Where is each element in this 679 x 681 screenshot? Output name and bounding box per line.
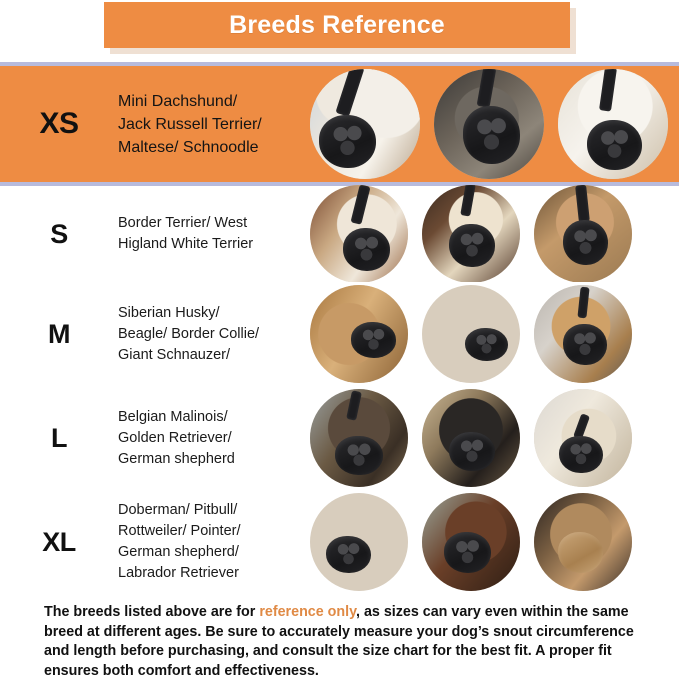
size-cell-xl: XL	[0, 527, 118, 558]
dog-photo	[534, 285, 632, 383]
size-cell-l: L	[0, 423, 118, 454]
photo-strip-s	[304, 186, 679, 282]
breed-line: Jack Russell Terrier/	[118, 113, 300, 136]
breed-line: Labrador Retriever	[118, 563, 300, 584]
dog-photo	[558, 69, 668, 179]
size-cell-m: M	[0, 319, 118, 350]
breed-line: Rottweiler/ Pointer/	[118, 521, 300, 542]
size-label: XL	[42, 527, 76, 558]
breed-line: Belgian Malinois/	[118, 407, 300, 428]
dog-photo	[310, 389, 408, 487]
footer-text-part1: The breeds listed above are for	[44, 604, 259, 620]
photo-strip-xs	[304, 66, 679, 182]
breed-cell-xs: Mini Dachshund/ Jack Russell Terrier/ Ma…	[118, 90, 304, 159]
breed-line: German shepherd/	[118, 542, 300, 563]
breed-line: Golden Retriever/	[118, 428, 300, 449]
dog-photo	[310, 185, 408, 283]
breed-cell-l: Belgian Malinois/ Golden Retriever/ Germ…	[118, 407, 304, 470]
breed-line: Siberian Husky/	[118, 303, 300, 324]
breed-line: Maltese/ Schnoodle	[118, 136, 300, 159]
dog-photo	[534, 389, 632, 487]
dog-photo	[422, 185, 520, 283]
dog-photo	[534, 185, 632, 283]
dog-photo	[310, 69, 420, 179]
dog-photo	[310, 285, 408, 383]
breed-line: Higland White Terrier	[118, 234, 300, 255]
dog-photo	[434, 69, 544, 179]
table-row-l: L Belgian Malinois/ Golden Retriever/ Ge…	[0, 386, 679, 490]
breeds-reference-sheet: Breeds Reference XS Mini Dachshund/ Jack…	[0, 0, 679, 672]
breed-line: Doberman/ Pitbull/	[118, 500, 300, 521]
breeds-table: XS Mini Dachshund/ Jack Russell Terrier/…	[0, 62, 679, 594]
dog-photo	[422, 493, 520, 591]
photo-strip-l	[304, 386, 679, 490]
size-cell-s: S	[0, 219, 118, 250]
dog-photo	[422, 389, 520, 487]
footer-highlight: reference only	[259, 604, 356, 620]
table-row-xl: XL Doberman/ Pitbull/ Rottweiler/ Pointe…	[0, 490, 679, 594]
size-label: M	[48, 319, 70, 350]
title-banner: Breeds Reference	[104, 2, 570, 48]
table-row-m: M Siberian Husky/ Beagle/ Border Collie/…	[0, 282, 679, 386]
dog-photo	[422, 285, 520, 383]
size-cell-xs: XS	[0, 107, 118, 141]
size-label: L	[51, 423, 67, 454]
breed-cell-m: Siberian Husky/ Beagle/ Border Collie/ G…	[118, 303, 304, 366]
size-label: S	[50, 219, 68, 250]
title-bar: Breeds Reference	[104, 2, 570, 48]
breed-line: Giant Schnauzer/	[118, 345, 300, 366]
page-title: Breeds Reference	[229, 11, 445, 40]
photo-strip-xl	[304, 490, 679, 594]
breed-line: Beagle/ Border Collie/	[118, 324, 300, 345]
dog-photo	[310, 493, 408, 591]
footer-disclaimer: The breeds listed above are for referenc…	[44, 603, 644, 681]
dog-photo	[534, 493, 632, 591]
table-row-s: S Border Terrier/ West Higland White Ter…	[0, 186, 679, 282]
breed-cell-s: Border Terrier/ West Higland White Terri…	[118, 213, 304, 255]
breed-line: Border Terrier/ West	[118, 213, 300, 234]
size-label: XS	[39, 107, 78, 141]
breed-line: German shepherd	[118, 449, 300, 470]
breed-line: Mini Dachshund/	[118, 90, 300, 113]
table-row-xs: XS Mini Dachshund/ Jack Russell Terrier/…	[0, 62, 679, 186]
breed-cell-xl: Doberman/ Pitbull/ Rottweiler/ Pointer/ …	[118, 500, 304, 584]
photo-strip-m	[304, 282, 679, 386]
